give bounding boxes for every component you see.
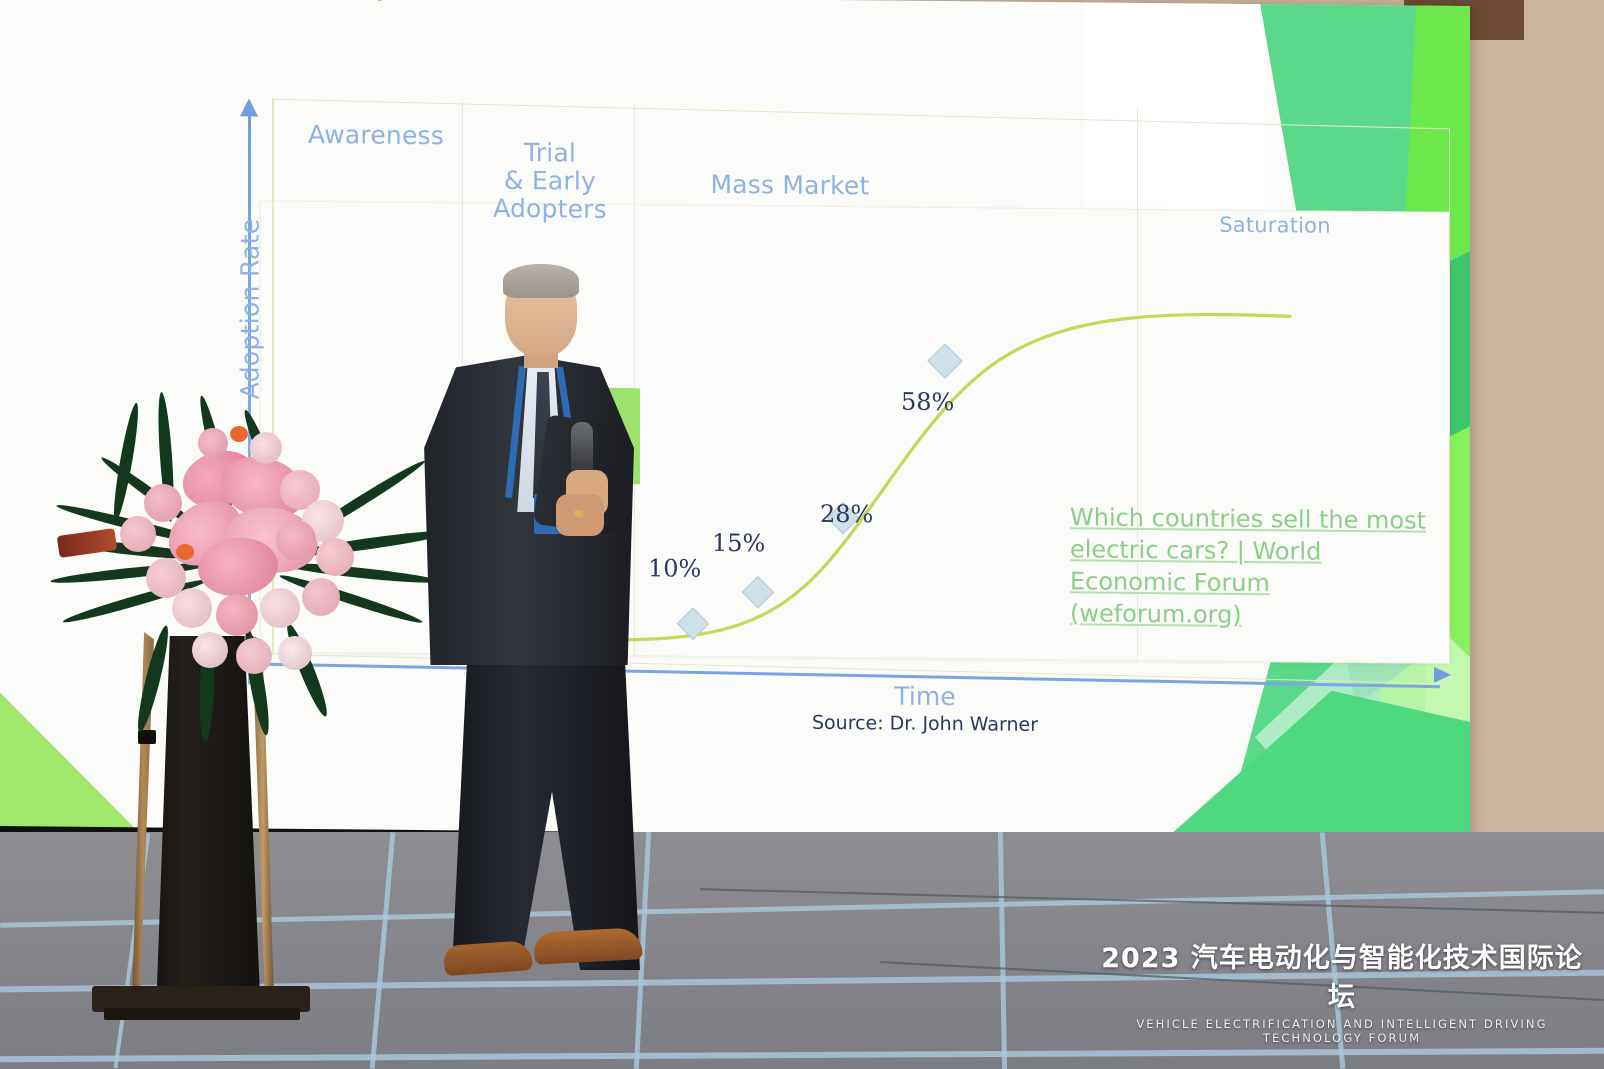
flower-arrangement <box>50 392 430 722</box>
x-axis-arrowhead <box>1434 667 1451 683</box>
slide-title-area: ...ption of LIB's.....How Mature? (just … <box>270 0 1390 71</box>
speaker-hair <box>503 264 579 298</box>
data-label-10-percent: 10% <box>648 554 701 583</box>
data-label-28-percent: 28% <box>820 500 873 529</box>
speaker-ring <box>574 510 583 517</box>
x-axis-label: Time <box>830 681 1020 712</box>
conference-title-english: VEHICLE ELECTRIFICATION AND INTELLIGENT … <box>1096 1017 1588 1045</box>
phase-label-awareness: Awareness <box>296 121 456 151</box>
phase-label-trial-early-adopters: Trial & Early Adopters <box>480 139 620 224</box>
podium-base-plate <box>104 1008 300 1020</box>
speaker-shoe-right <box>533 927 643 965</box>
weforum-hyperlink[interactable]: Which countries sell the most electric c… <box>1070 502 1445 633</box>
speaker-shoe-left <box>443 940 533 976</box>
data-label-15-percent: 15% <box>712 529 765 558</box>
conference-stage-photo: ...ption of LIB's.....How Mature? (just … <box>0 0 1604 1069</box>
conference-title-chinese: 2023 汽车电动化与智能化技术国际论坛 <box>1096 936 1588 1014</box>
source-attribution: Source: Dr. John Warner <box>700 711 1150 737</box>
phase-label-mass-market: Mass Market <box>690 171 890 201</box>
weforum-hyperlink-text[interactable]: Which countries sell the most electric c… <box>1070 503 1426 628</box>
data-label-58-percent: 58% <box>901 388 954 417</box>
conference-branding: 2023 汽车电动化与智能化技术国际论坛 VEHICLE ELECTRIFICA… <box>1096 936 1588 1045</box>
